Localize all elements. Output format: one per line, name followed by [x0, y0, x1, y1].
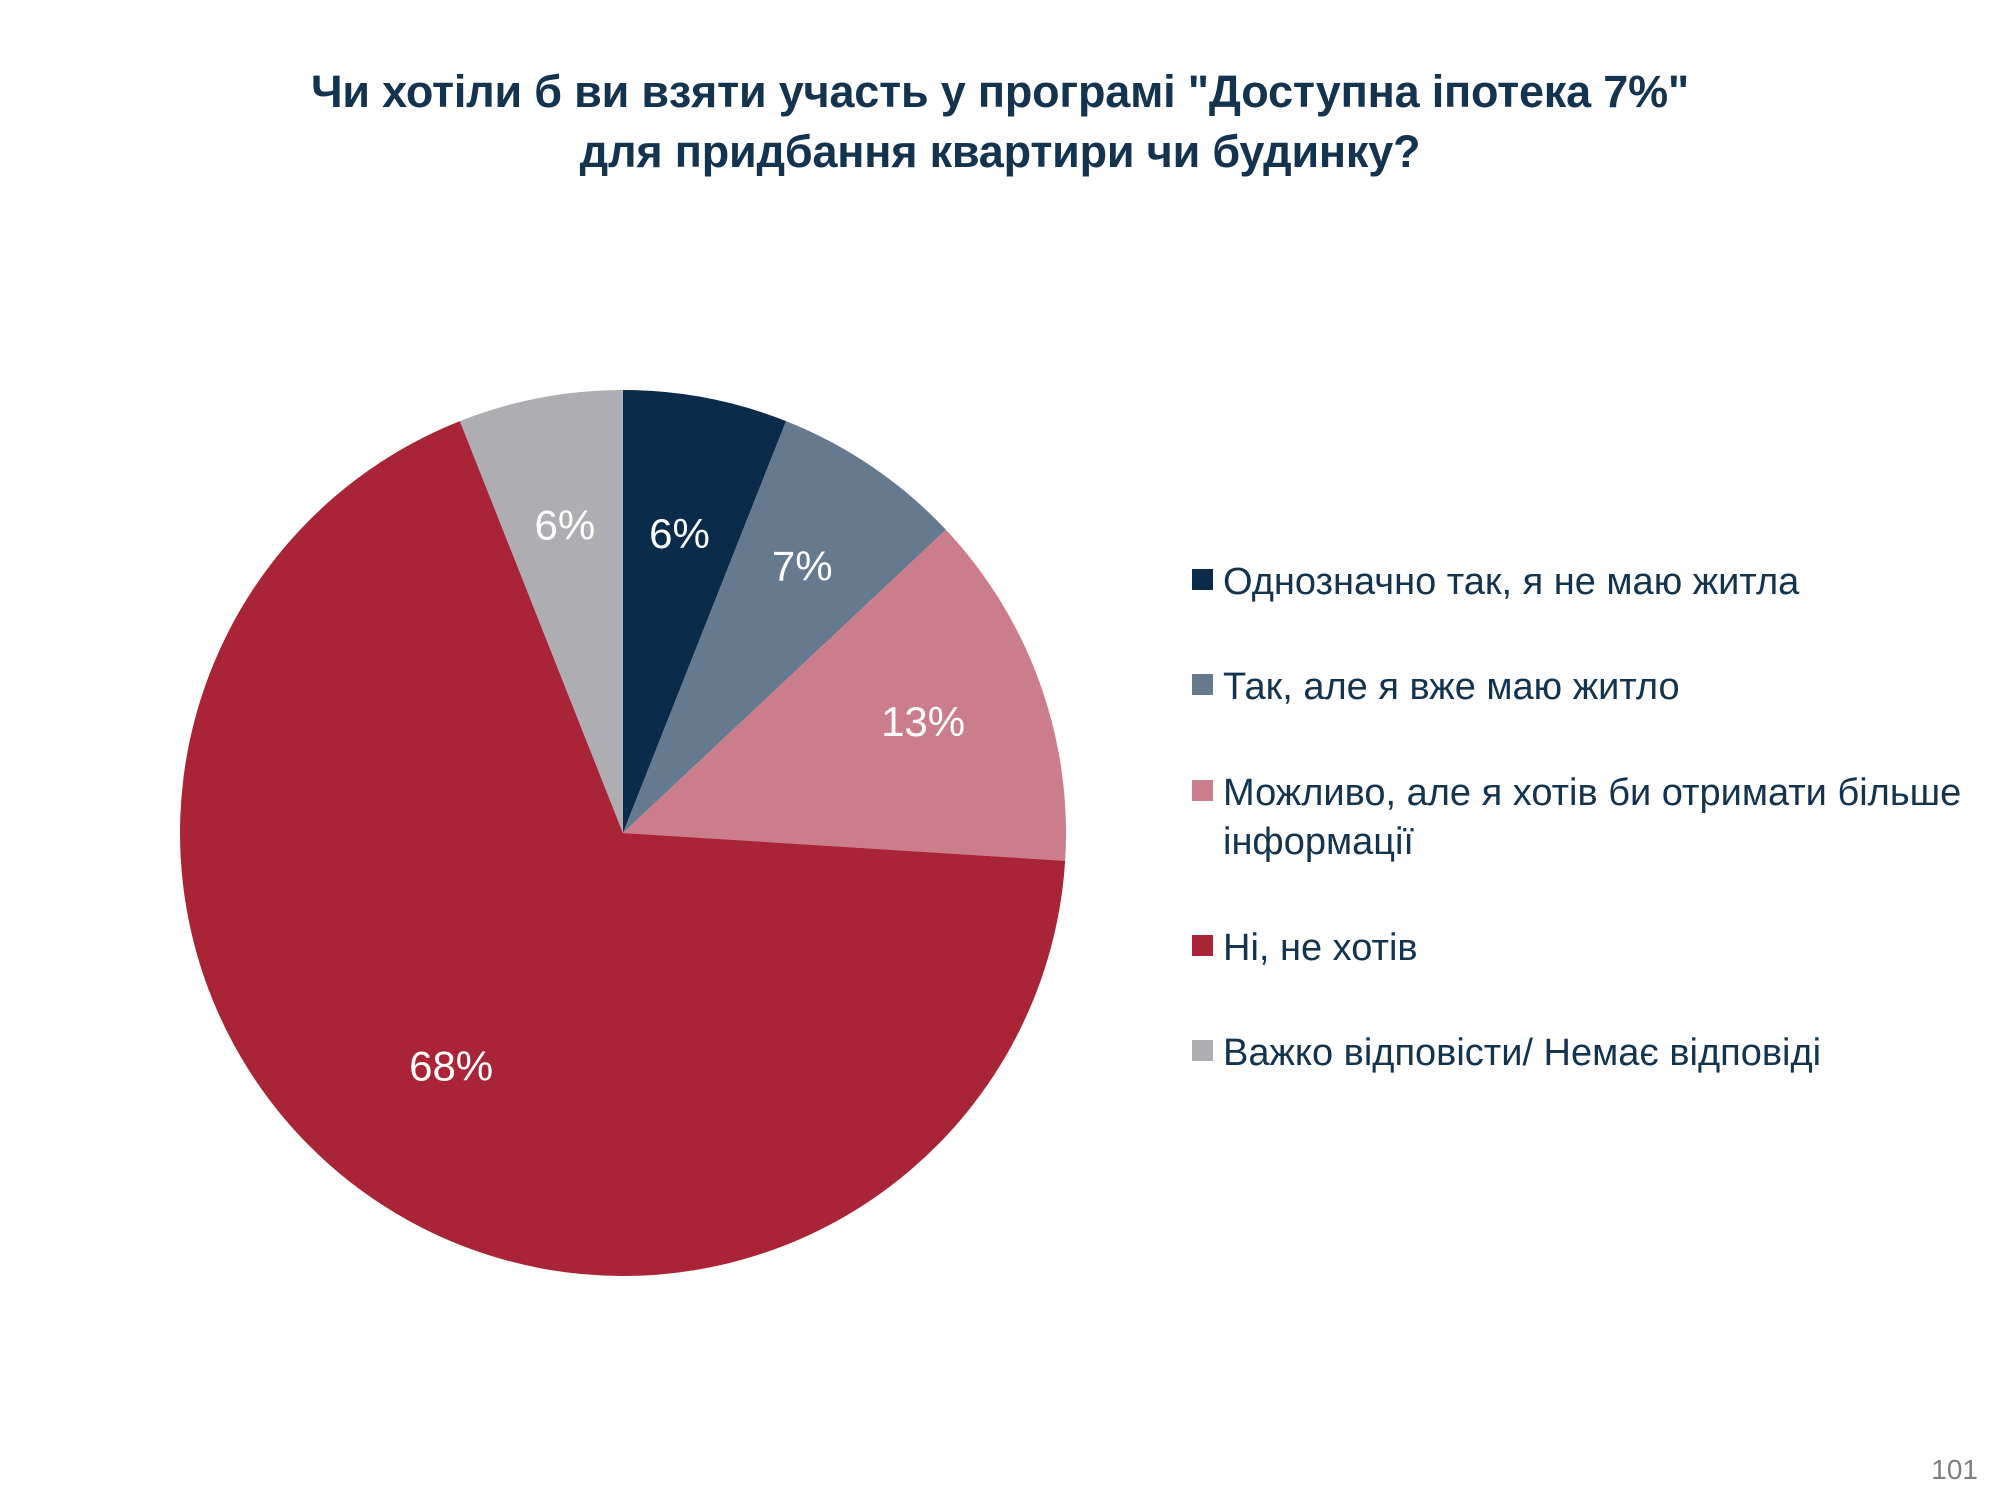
legend-item[interactable]: Можливо, але я хотів би отримати більше …	[1192, 769, 1982, 868]
pie-chart-svg: 6%7%13%68%6%	[180, 390, 1066, 1276]
pie-data-label: 6%	[535, 501, 596, 548]
legend-swatch-icon	[1192, 569, 1213, 590]
legend-item-label: Ні, не хотів	[1223, 924, 1982, 973]
legend-item-label: Так, але я вже маю житло	[1223, 663, 1982, 712]
page-number: 101	[1931, 1454, 1978, 1486]
pie-slice-group	[180, 390, 1066, 1276]
legend-item[interactable]: Ні, не хотів	[1192, 924, 1982, 973]
page-title-line-1: Чи хотіли б ви взяти участь у програмі "…	[0, 62, 2000, 122]
legend-item[interactable]: Так, але я вже маю житло	[1192, 663, 1982, 712]
chart-legend: Однозначно так, я не маю житлаТак, але я…	[1192, 558, 1982, 1134]
legend-swatch-icon	[1192, 1040, 1213, 1061]
pie-chart: 6%7%13%68%6%	[180, 390, 1066, 1276]
pie-data-label: 7%	[772, 542, 833, 589]
legend-swatch-icon	[1192, 780, 1213, 801]
legend-item-label: Однозначно так, я не маю житла	[1223, 558, 1982, 607]
legend-item[interactable]: Однозначно так, я не маю житла	[1192, 558, 1982, 607]
legend-swatch-icon	[1192, 935, 1213, 956]
pie-data-label: 68%	[409, 1043, 493, 1090]
page-title: Чи хотіли б ви взяти участь у програмі "…	[0, 62, 2000, 182]
legend-item-label: Важко відповісти/ Немає відповіді	[1223, 1029, 1982, 1078]
legend-swatch-icon	[1192, 674, 1213, 695]
legend-item[interactable]: Важко відповісти/ Немає відповіді	[1192, 1029, 1982, 1078]
pie-data-label: 13%	[881, 698, 965, 745]
page-title-line-2: для придбання квартири чи будинку?	[0, 122, 2000, 182]
pie-data-label: 6%	[649, 510, 710, 557]
legend-item-label: Можливо, але я хотів би отримати більше …	[1223, 769, 1982, 868]
